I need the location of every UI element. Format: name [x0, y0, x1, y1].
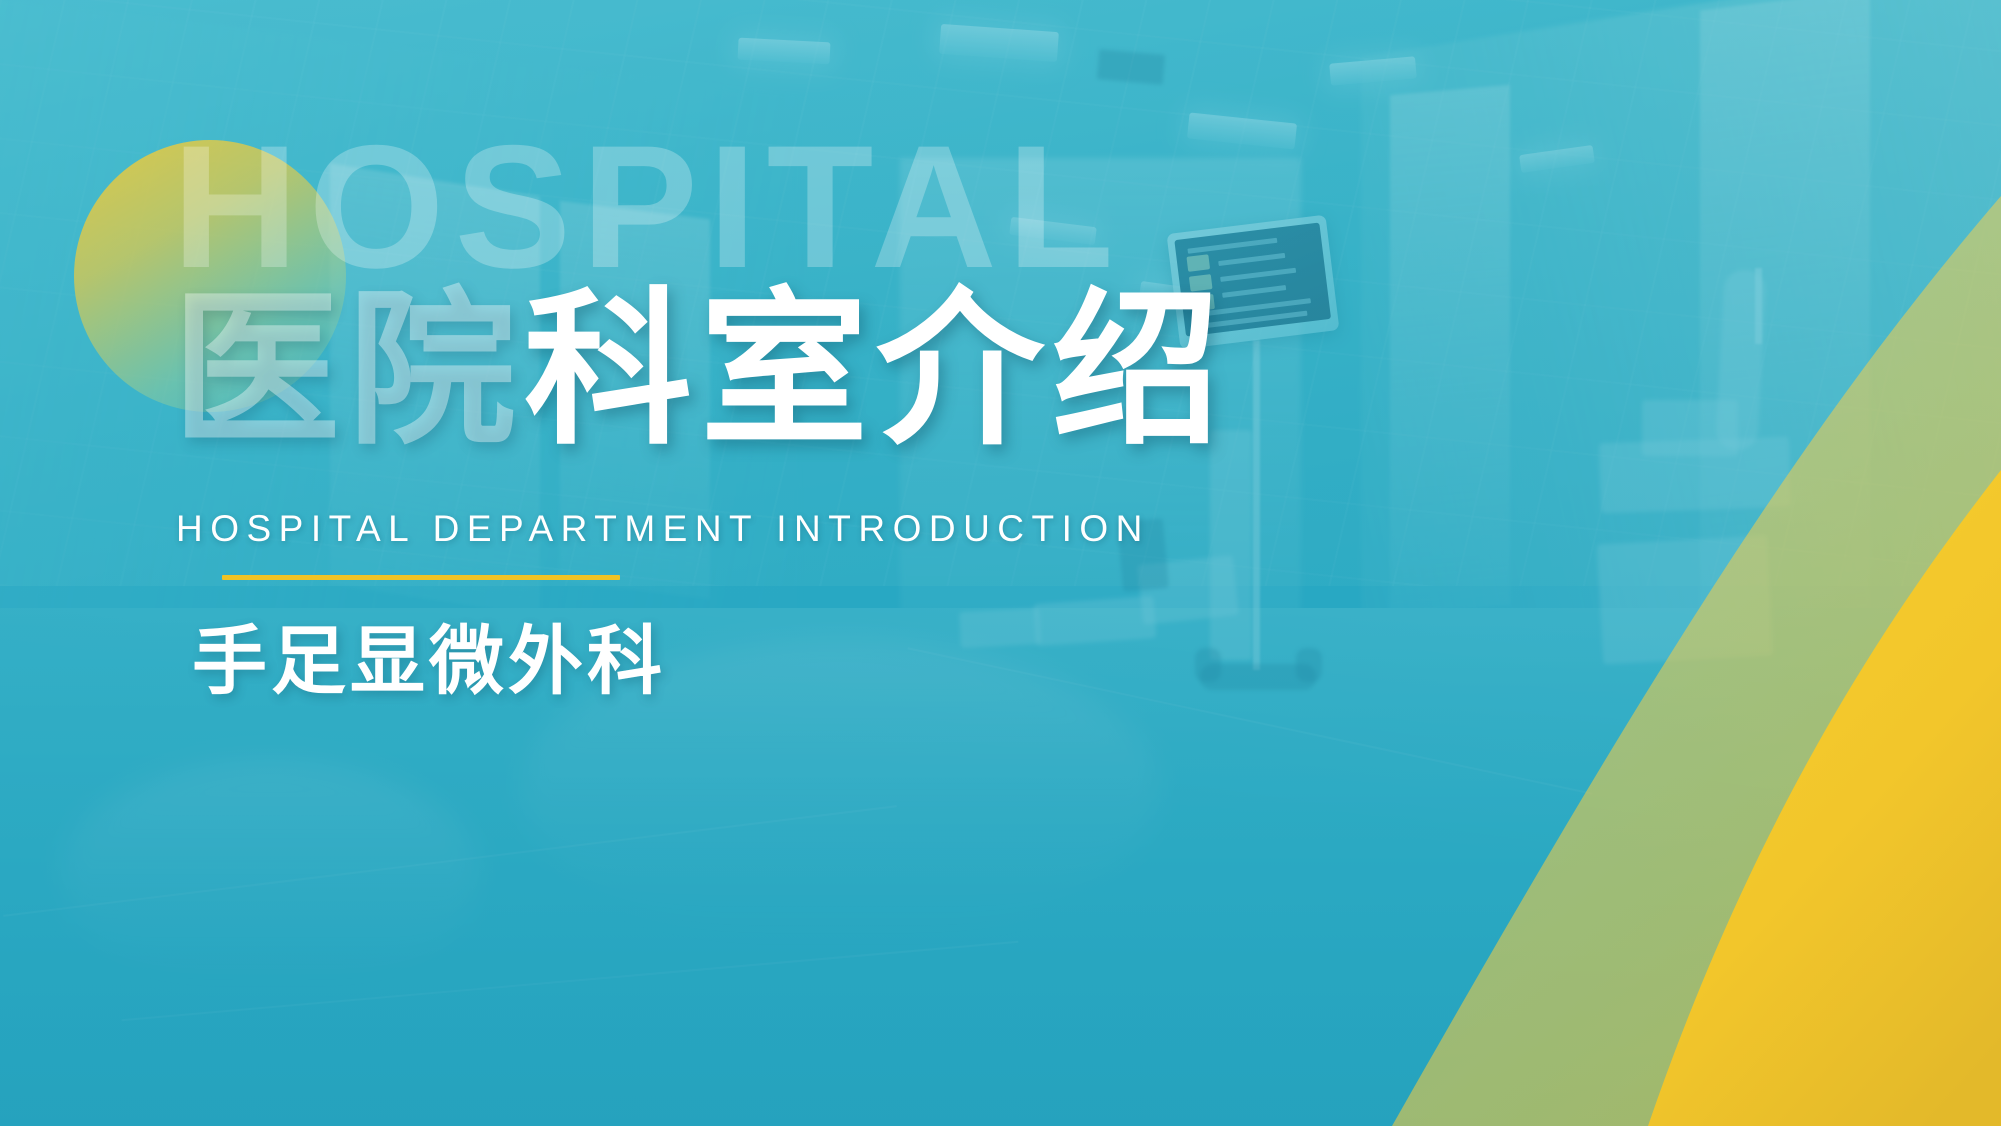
- gold-divider: [222, 575, 620, 580]
- hospital-watermark-text: HOSPITAL: [172, 120, 1124, 295]
- page-title: 医院科室介绍: [172, 280, 1228, 461]
- page-subtitle: HOSPITAL DEPARTMENT INTRODUCTION: [176, 508, 1150, 550]
- department-name: 手足显微外科: [192, 600, 666, 709]
- slide-canvas: HOSPITAL 医院科室介绍 HOSPITAL DEPARTMENT INTR…: [0, 0, 2001, 1126]
- page-title-dim-part: 医院: [172, 276, 524, 464]
- page-title-bright-part: 科室介绍: [524, 276, 1228, 464]
